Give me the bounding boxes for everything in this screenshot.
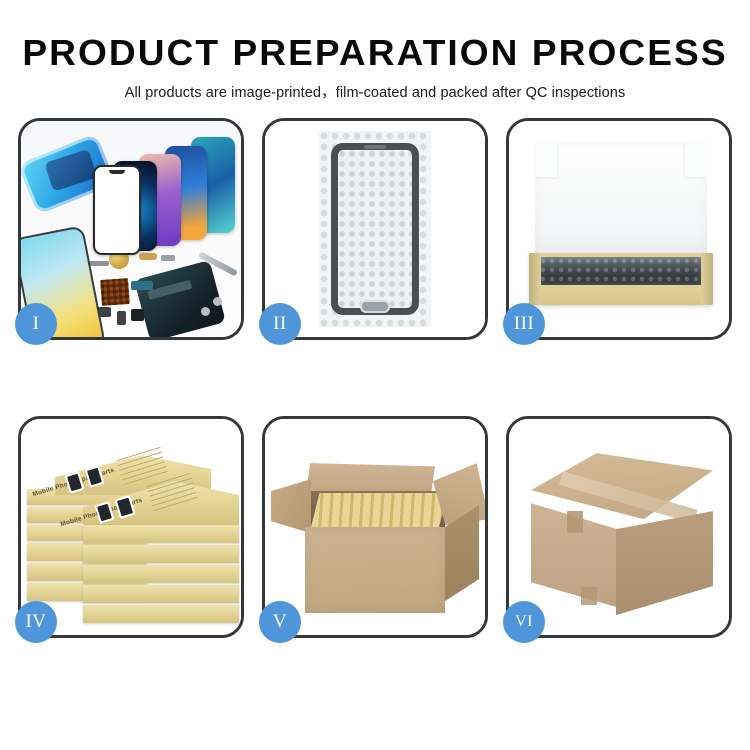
boxed-screen-assembly (539, 257, 703, 285)
foam-insert (535, 143, 707, 267)
phone-display-white (93, 165, 141, 255)
process-steps-grid: I II III (18, 118, 732, 638)
carton-corner-tab-top (567, 511, 583, 533)
step-1-image (21, 121, 241, 337)
chip-part (131, 309, 144, 321)
process-step-panel-6: VI (506, 416, 732, 638)
retail-box-row-b2 (83, 545, 239, 563)
step-5-image (265, 419, 485, 635)
step-6-image (509, 419, 729, 635)
step-badge-3: III (503, 303, 545, 345)
step-badge-6: VI (503, 601, 545, 643)
page-subtitle: All products are image-printed，film-coat… (0, 81, 750, 102)
retail-box-stack: Mobile Phone Spare Parts Mobile Phone Sp… (27, 437, 239, 629)
retail-box-row-b4 (83, 585, 239, 603)
step-2-image (265, 121, 485, 337)
antenna-flex-part (131, 281, 153, 290)
step-badge-1: I (15, 303, 57, 345)
metal-bracket-part (161, 255, 175, 261)
retail-box-row-b1 (83, 525, 239, 543)
carton-front-face (305, 527, 445, 613)
bubble-wrap-sheet (319, 131, 431, 327)
kraft-box-base (529, 253, 713, 305)
button-part (117, 311, 126, 325)
retail-box-row-b5 (83, 605, 239, 623)
process-step-panel-2: II (262, 118, 488, 340)
process-step-panel-3: III (506, 118, 732, 340)
box-lip-left (529, 253, 541, 305)
page-header: PRODUCT PREPARATION PROCESS All products… (0, 0, 750, 102)
process-step-panel-4: Mobile Phone Spare Parts Mobile Phone Sp… (18, 416, 244, 638)
box-lip-right (701, 253, 713, 305)
carton-corner-tab-bottom (581, 587, 597, 605)
page-title: PRODUCT PREPARATION PROCESS (0, 34, 750, 72)
process-step-panel-1: I (18, 118, 244, 340)
wrapped-screen-assembly (331, 143, 419, 315)
step-badge-2: II (259, 303, 301, 345)
retail-box-row-b3 (83, 565, 239, 583)
step-3-image (509, 121, 729, 337)
process-step-panel-5: V (262, 416, 488, 638)
packed-retail-boxes (311, 493, 447, 527)
step-4-image: Mobile Phone Spare Parts Mobile Phone Sp… (21, 419, 241, 635)
gold-connector-part (139, 253, 157, 260)
connector-grid-part (100, 278, 130, 306)
step-badge-4: IV (15, 601, 57, 643)
step-badge-5: V (259, 601, 301, 643)
